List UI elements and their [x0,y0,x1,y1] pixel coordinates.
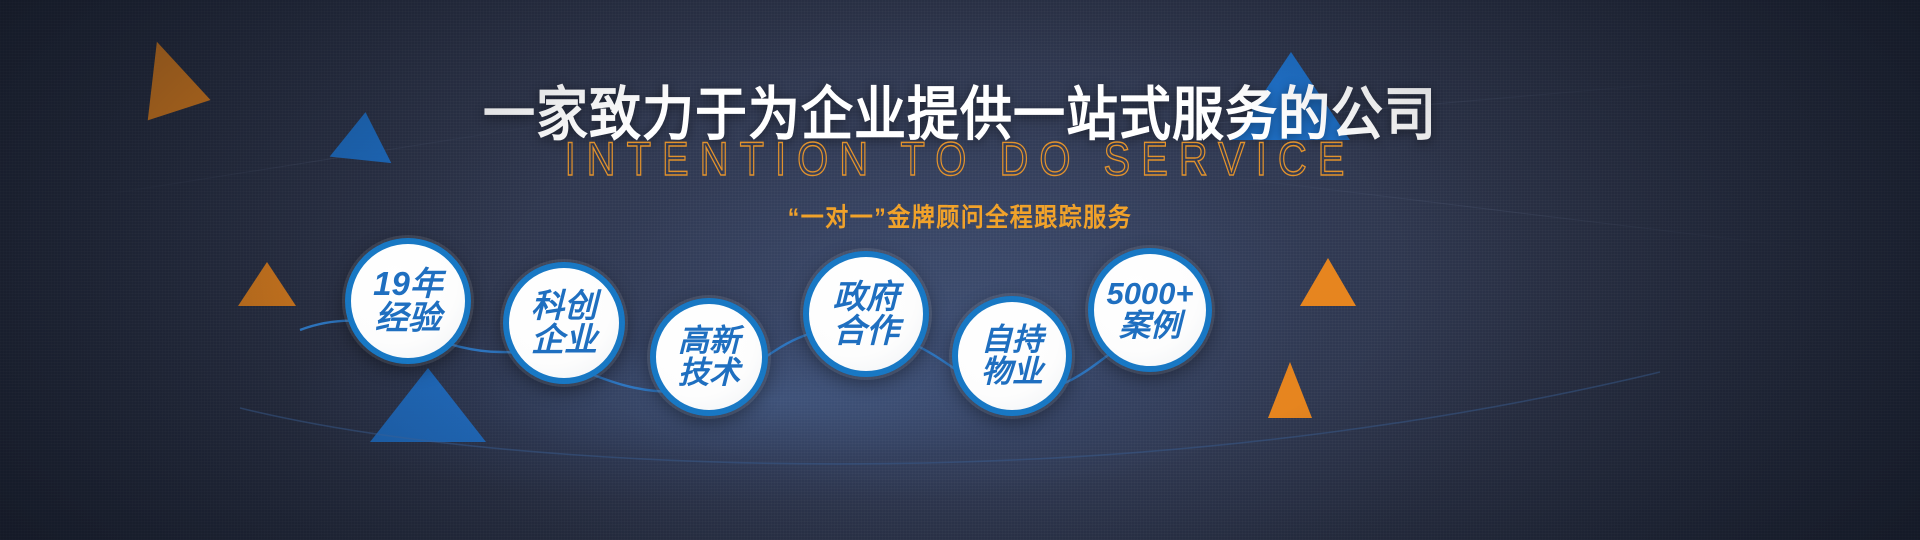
feature-bubble-line: 19年 [373,267,443,301]
feature-bubble-line: 5000+ [1106,278,1193,310]
feature-bubble-line: 物业 [981,356,1043,388]
feature-bubble-tech-startup[interactable]: 科创企业 [503,262,625,384]
feature-bubble-gov-cooperation[interactable]: 政府合作 [803,251,929,377]
feature-bubble-line: 自持 [981,324,1043,356]
feature-bubble-high-tech[interactable]: 高新技术 [650,298,768,416]
feature-bubble-years-experience[interactable]: 19年经验 [345,238,471,364]
triangle-orange-bottom-right [1268,362,1312,418]
feature-bubble-line: 技术 [678,357,740,389]
feature-bubble-line: 科创 [531,289,597,323]
hero-banner: 一家致力于为企业提供一站式服务的公司 INTENTION TO DO SERVI… [0,0,1920,540]
triangle-blue-bottom-left [370,368,486,442]
triangle-orange-mid-right [1300,258,1356,306]
feature-bubble-line: 企业 [531,323,597,357]
service-tagline: “一对一”金牌顾问全程跟踪服务 [0,196,1920,233]
feature-bubble-line: 经验 [375,301,441,335]
triangle-orange-mid-left [238,262,296,306]
feature-bubble-line: 高新 [678,325,740,357]
feature-bubble-line: 政府 [833,280,899,314]
feature-bubble-line: 案例 [1119,310,1181,342]
feature-bubble-cases-count[interactable]: 5000+案例 [1088,248,1212,372]
english-subtitle: INTENTION TO DO SERVICE [0,134,1920,187]
feature-bubble-line: 合作 [833,314,899,348]
feature-bubble-own-property[interactable]: 自持物业 [952,296,1072,416]
